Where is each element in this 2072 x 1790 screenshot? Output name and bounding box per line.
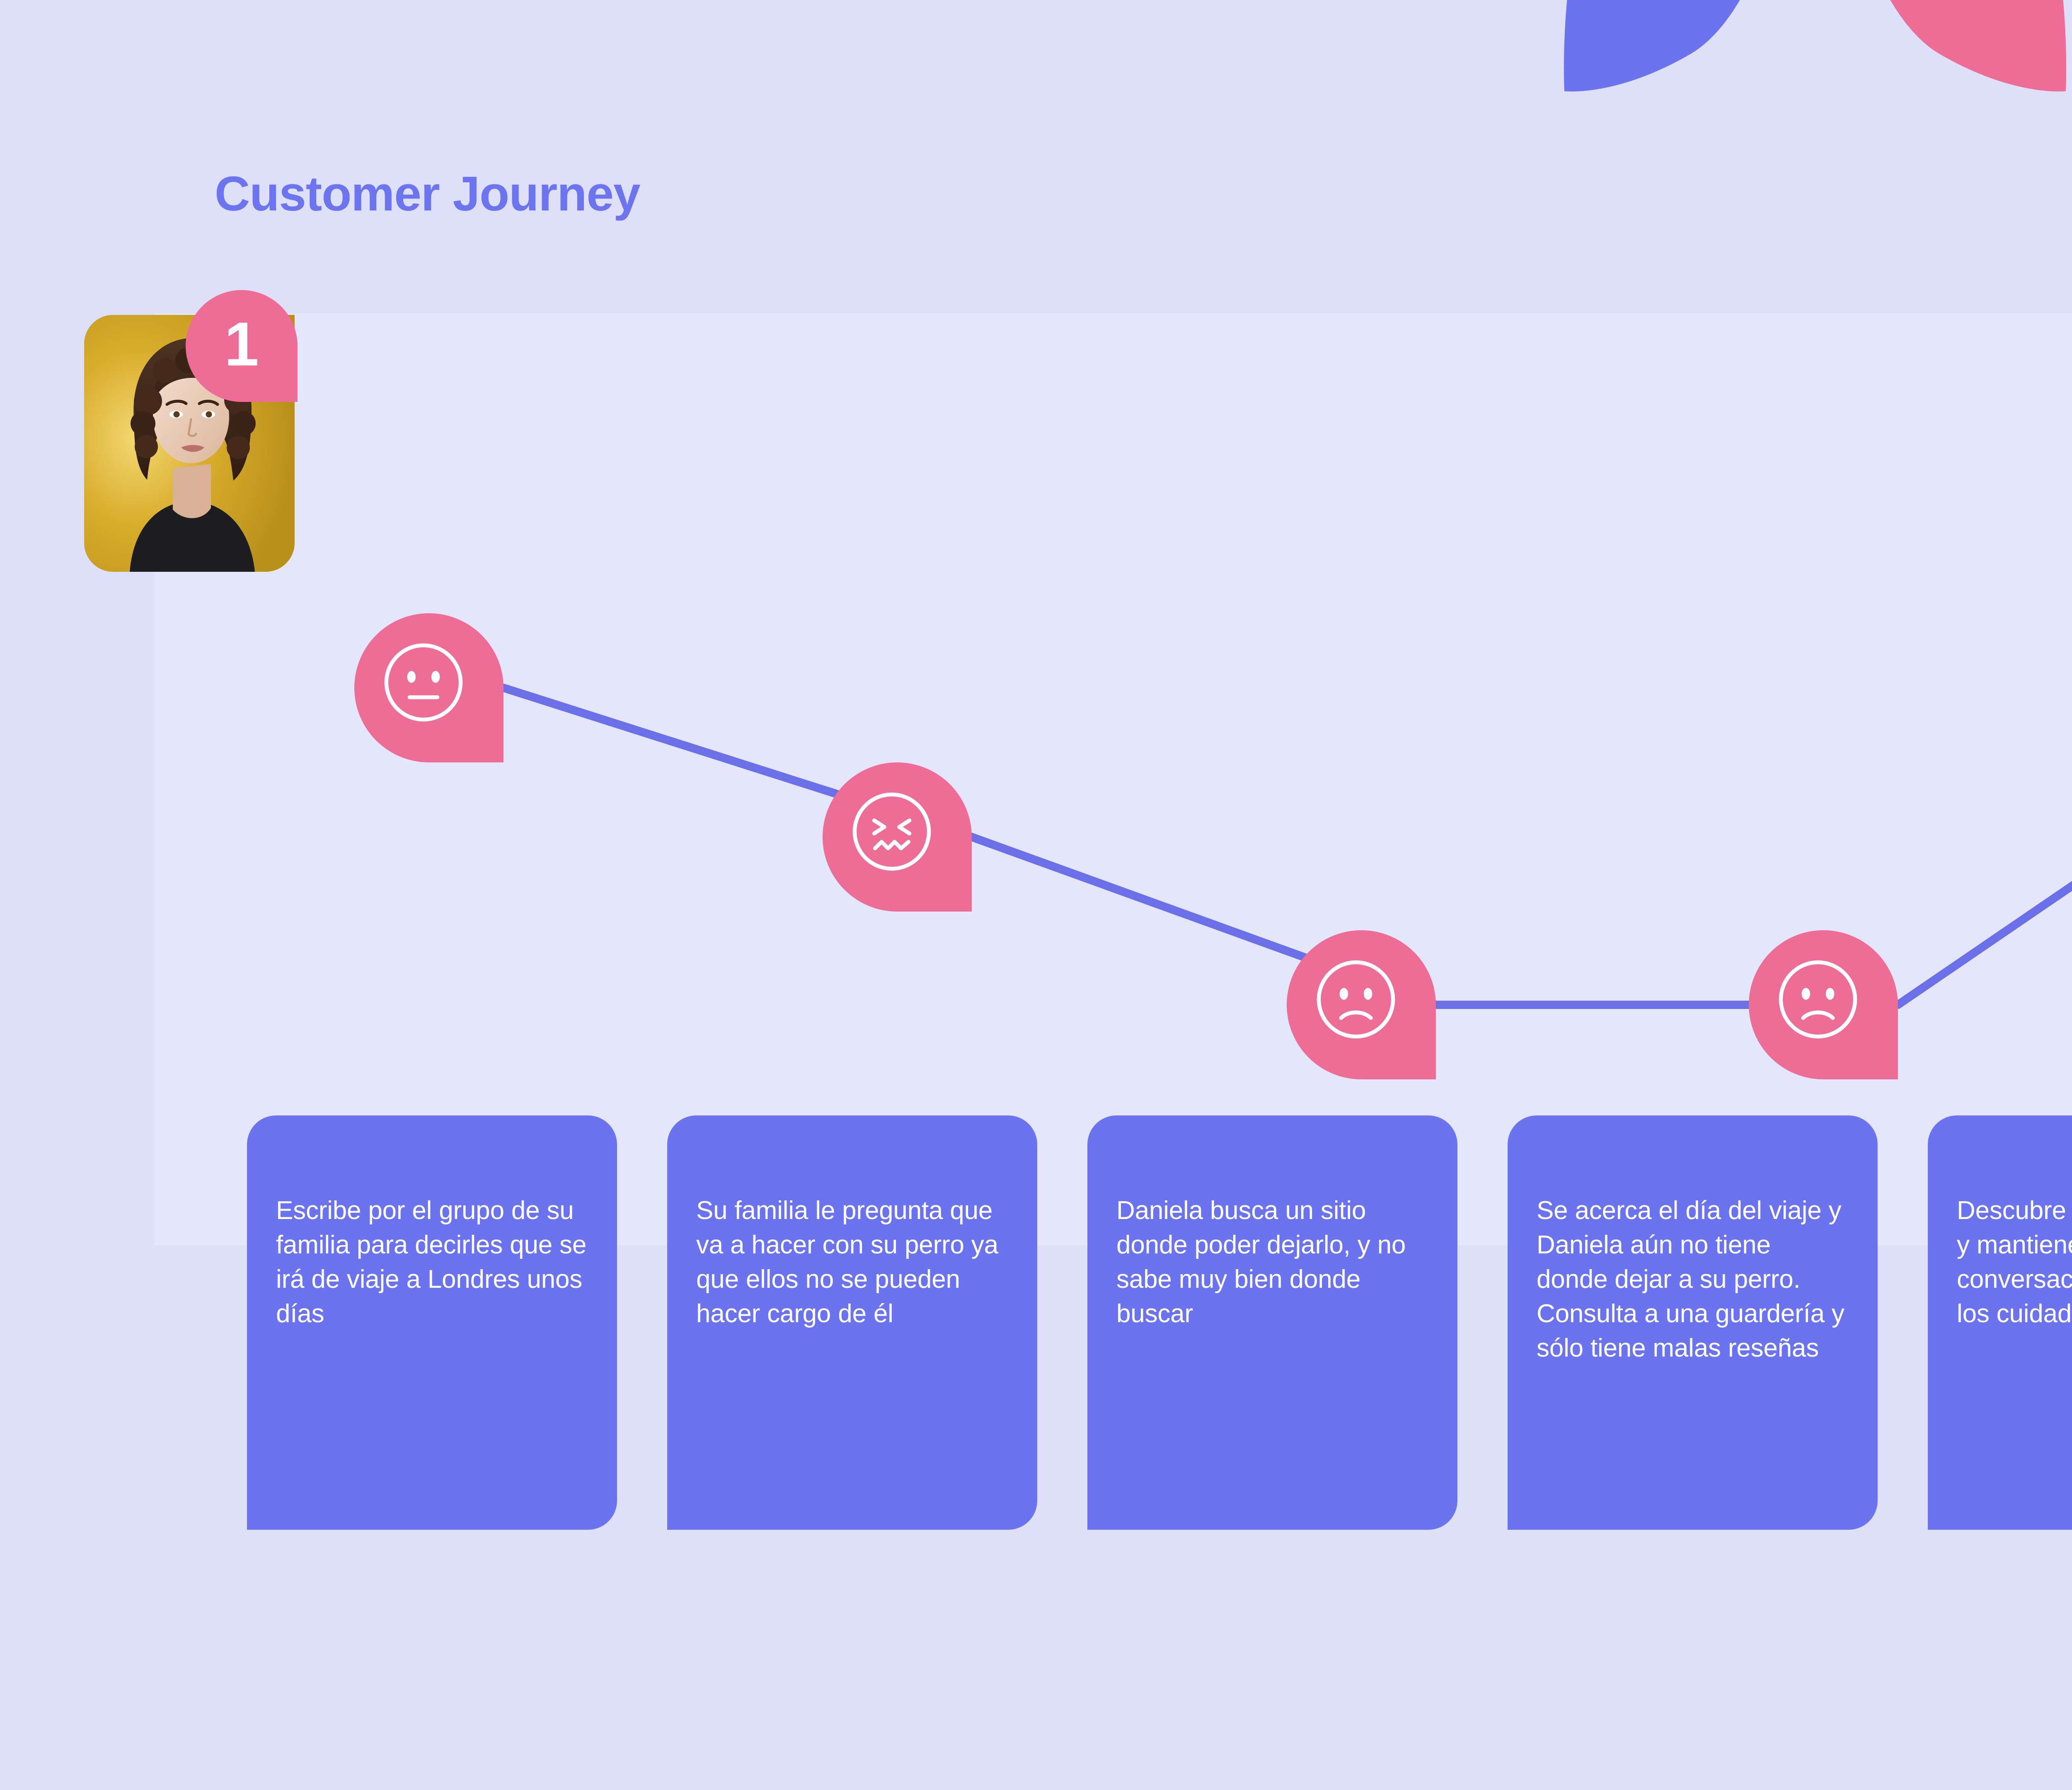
journey-card[interactable]: Escribe por el grupo de su familia para … bbox=[247, 1115, 617, 1530]
journey-panel bbox=[154, 313, 2072, 1246]
journey-card[interactable]: Daniela busca un sitio donde poder dejar… bbox=[1087, 1115, 1457, 1530]
journey-pin-2[interactable] bbox=[823, 762, 972, 912]
journey-pin-1[interactable] bbox=[354, 613, 503, 762]
confounded-face-icon bbox=[845, 785, 938, 878]
sad-face-icon bbox=[1310, 953, 1402, 1046]
page-title: Customer Journey bbox=[215, 166, 640, 222]
leaf-shape-pink-icon bbox=[1823, 0, 2066, 92]
leaf-shape-blue-icon bbox=[1564, 0, 1807, 92]
neutral-face-icon bbox=[377, 636, 470, 729]
journey-pin-4[interactable] bbox=[1749, 930, 1898, 1079]
sad-face-icon bbox=[1772, 953, 1864, 1046]
persona-badge: 1 bbox=[186, 290, 298, 402]
journey-card[interactable]: Descubre la app Buddy Pet y mantiene una… bbox=[1928, 1115, 2072, 1530]
journey-stage-cards: Escribe por el grupo de su familia para … bbox=[247, 1115, 2072, 1530]
journey-card[interactable]: Se acerca el día del viaje y Daniela aún… bbox=[1508, 1115, 1878, 1530]
journey-card[interactable]: Su familia le pregunta que va a hacer co… bbox=[667, 1115, 1037, 1530]
top-decoration-leaves bbox=[1492, 0, 2072, 182]
persona-avatar[interactable]: 1 bbox=[84, 315, 295, 572]
journey-pin-3[interactable] bbox=[1287, 930, 1436, 1079]
